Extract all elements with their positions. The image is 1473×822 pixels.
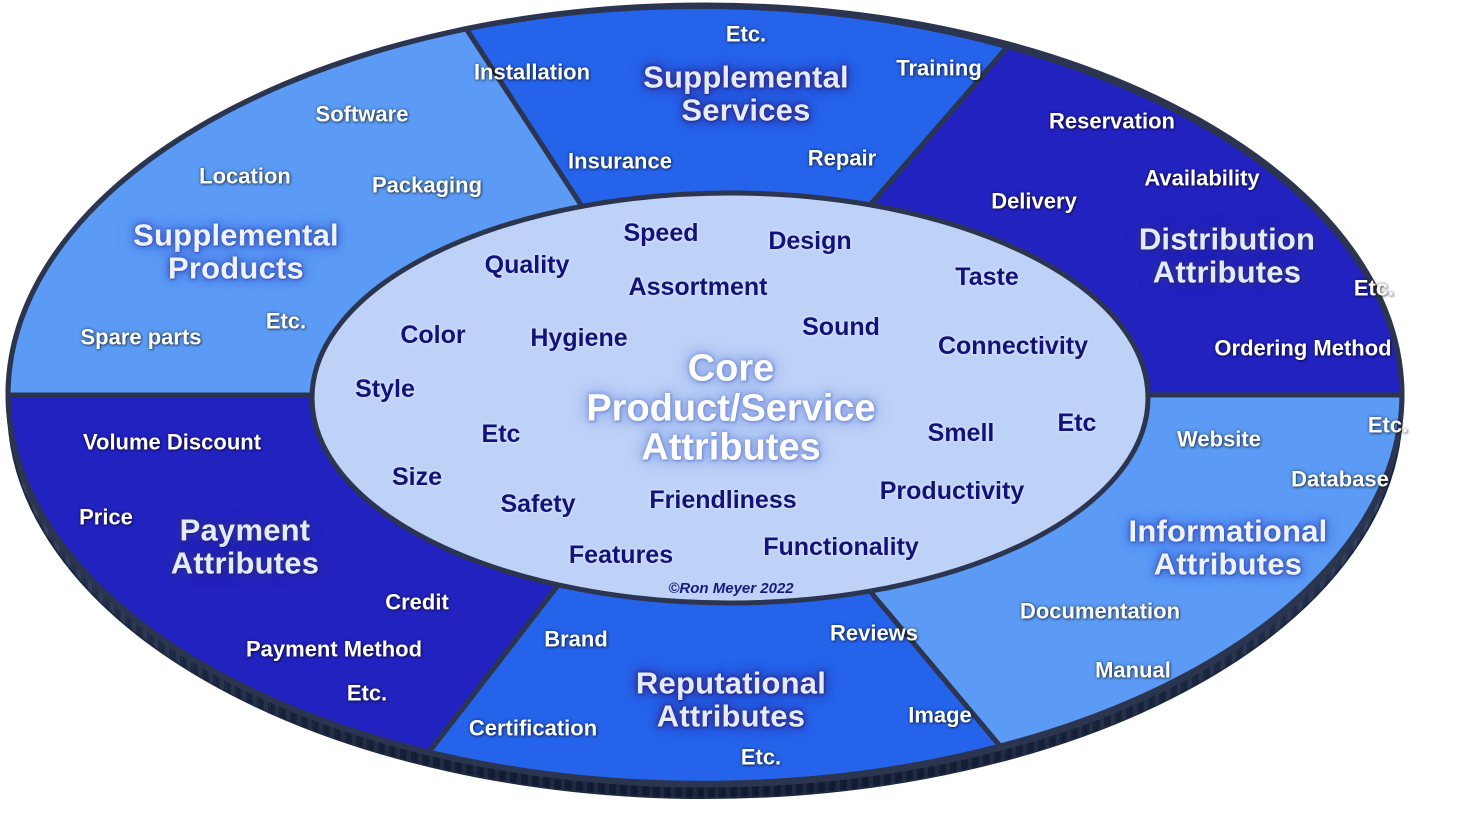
attributes-wheel-diagram: Supplemental Products Supplemental Servi… [0,0,1473,822]
core-ellipse[interactable] [312,193,1148,603]
wheel-graphic [0,0,1473,822]
